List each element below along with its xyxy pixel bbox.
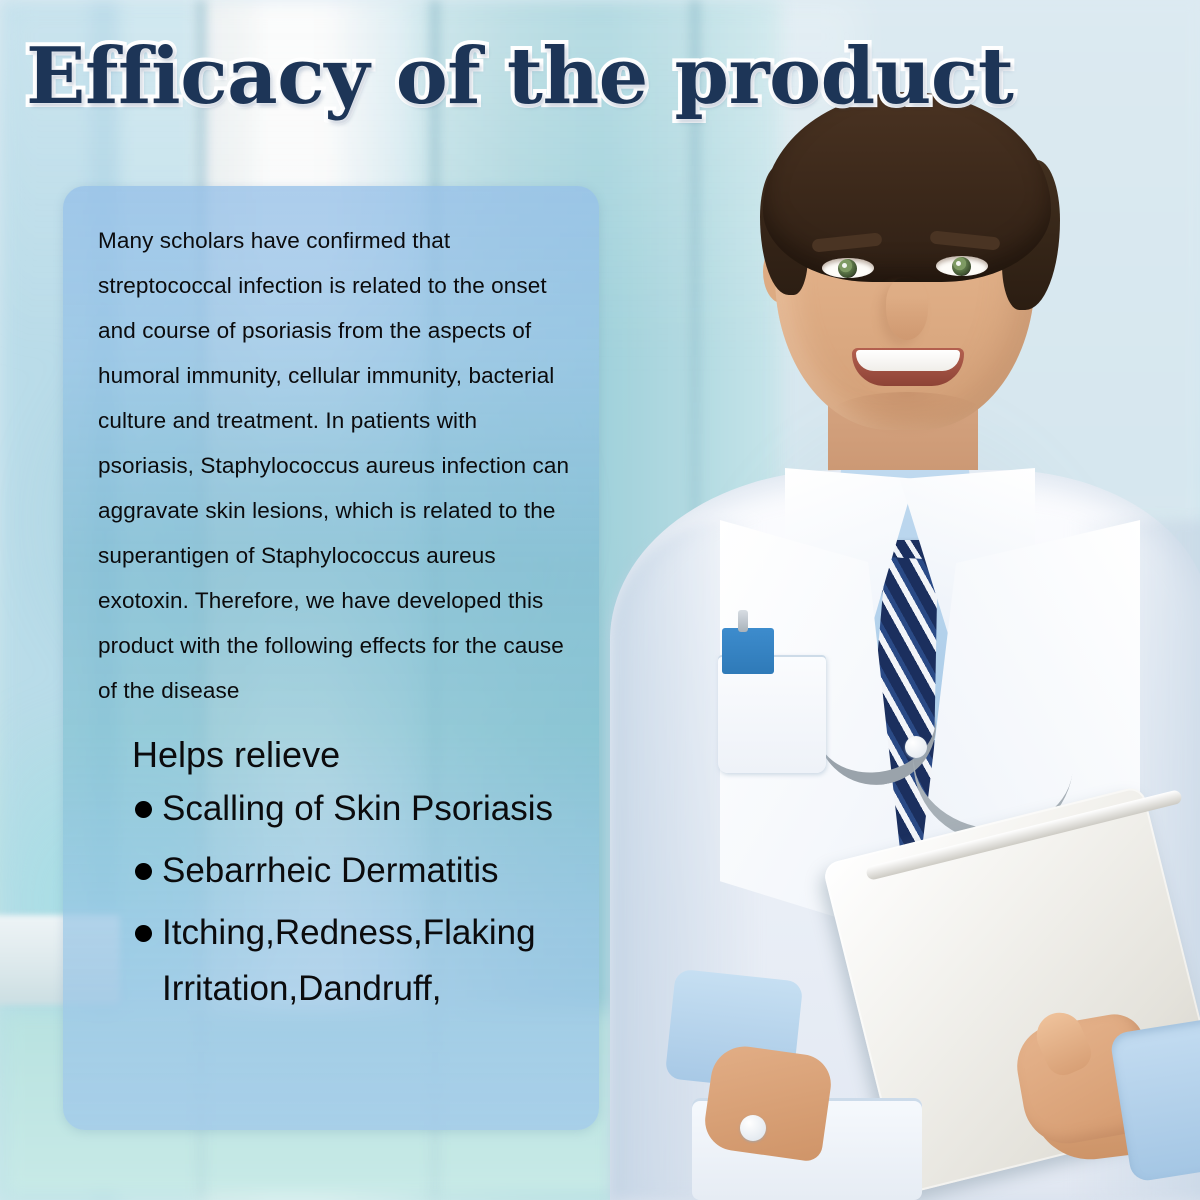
bullet-dot-icon xyxy=(135,863,152,880)
benefit-text: Itching,Redness,Flaking xyxy=(162,913,536,952)
list-item: Itching,Redness,Flaking Irritation,Dandr… xyxy=(98,905,575,1017)
body-paragraph: Many scholars have confirmed that strept… xyxy=(98,218,575,713)
benefit-text: Scalling of Skin Psoriasis xyxy=(162,789,553,828)
chin-shading xyxy=(830,392,985,438)
benefits-list: Scalling of Skin Psoriasis Sebarrheic De… xyxy=(98,781,575,1017)
coat-button-lower xyxy=(740,1115,766,1141)
eye-left xyxy=(822,258,874,278)
benefit-text: Sebarrheic Dermatitis xyxy=(162,851,499,890)
coat-button-upper xyxy=(905,736,927,758)
benefits-subheading: Helps relieve xyxy=(132,731,575,779)
list-item: Sebarrheic Dermatitis xyxy=(98,843,575,899)
eye-right xyxy=(936,256,988,276)
nose xyxy=(886,278,928,340)
benefit-text-continued: Irritation,Dandruff, xyxy=(162,961,575,1017)
pocket-pen xyxy=(722,628,774,674)
smiling-mouth xyxy=(852,348,964,386)
bullet-dot-icon xyxy=(135,925,152,942)
page-title: Efficacy of the product xyxy=(26,38,1046,116)
poster-canvas: Efficacy of the product Many scholars ha… xyxy=(0,0,1200,1200)
info-panel: Many scholars have confirmed that strept… xyxy=(63,186,599,1130)
doctor-photo xyxy=(600,0,1200,1200)
hand-left xyxy=(701,1042,834,1163)
list-item: Scalling of Skin Psoriasis xyxy=(98,781,575,837)
bullet-dot-icon xyxy=(135,801,152,818)
